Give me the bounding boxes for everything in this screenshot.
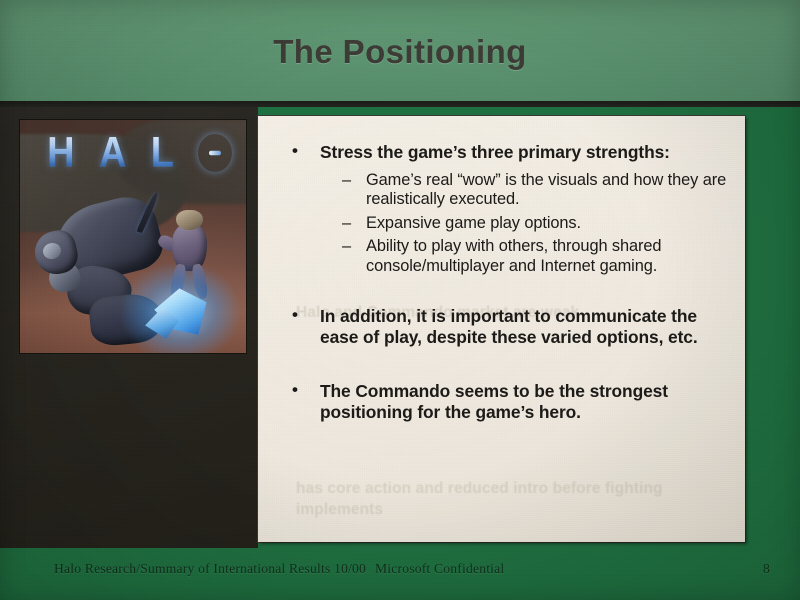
bullet-list: Stress the game’s three primary strength… (258, 116, 745, 542)
halo-logo-letter-l: L (151, 131, 176, 174)
bullet-level2-gameplay-options: Expansive game play options. (280, 214, 731, 234)
presentation-slide: The Positioning (0, 0, 800, 600)
bullet-level1-primary-strengths: Stress the game’s three primary strength… (280, 142, 731, 163)
footer-confidential-label: Microsoft Confidential (375, 561, 504, 577)
halo-cover-image: H A L (20, 120, 246, 353)
slide-header-band: The Positioning (0, 0, 800, 101)
bullet-level2-multiplayer: Ability to play with others, through sha… (280, 237, 731, 276)
footer-page-number: 8 (763, 561, 770, 577)
halo-logo-letter-a: A (99, 131, 128, 174)
halo-logo: H A L (47, 132, 232, 174)
bullet-level2-visuals: Game’s real “wow” is the visuals and how… (280, 171, 731, 210)
slide-footer: Halo Research/Summary of International R… (0, 548, 800, 600)
bullet-level1-commando-positioning: The Commando seems to be the strongest p… (280, 381, 731, 422)
bullet-spacer (280, 280, 731, 306)
footer-source-label: Halo Research/Summary of International R… (54, 561, 366, 577)
plasma-energy-object (142, 281, 219, 344)
halo-logo-ring-o (198, 134, 232, 172)
bullet-level1-ease-of-play: In addition, it is important to communic… (280, 306, 731, 347)
page-title: The Positioning (0, 33, 800, 71)
halo-logo-letter-h: H (47, 131, 76, 174)
content-panel: Halo and Commando market are weak has co… (258, 116, 745, 542)
bullet-spacer-2 (280, 355, 731, 381)
